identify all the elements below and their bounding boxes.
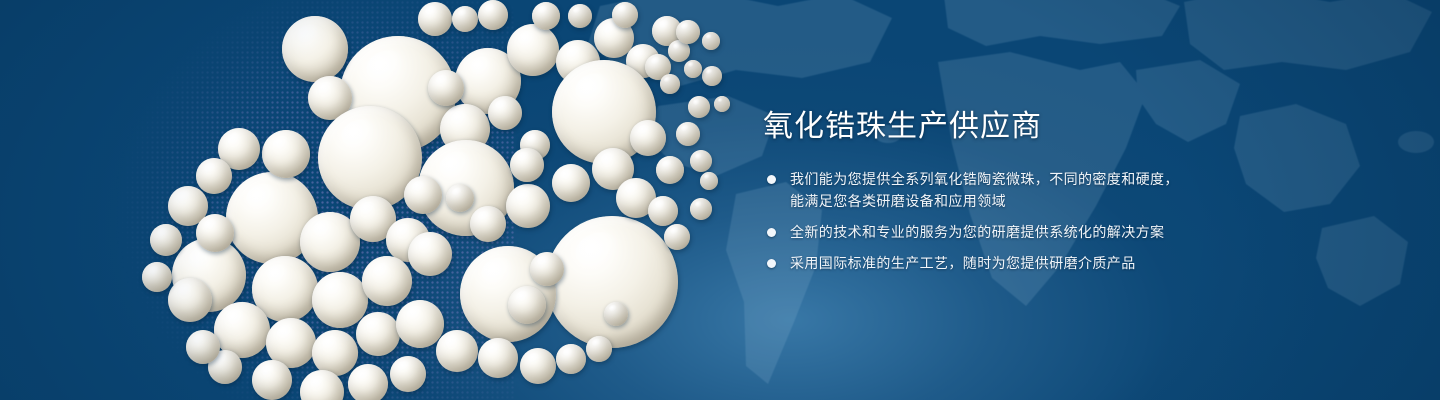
- filled-circle-bullet-icon: [767, 228, 776, 237]
- hero-banner: 氧化锆珠生产供应商 我们能为您提供全系列氧化锆陶瓷微珠，不同的密度和硬度， 能满…: [0, 0, 1440, 400]
- bullet-line: 能满足您各类研磨设备和应用领域: [790, 190, 1233, 212]
- bullet-line: 全新的技术和专业的服务为您的研磨提供系统化的解决方案: [790, 221, 1233, 243]
- banner-content: 氧化锆珠生产供应商 我们能为您提供全系列氧化锆陶瓷微珠，不同的密度和硬度， 能满…: [763, 108, 1233, 274]
- bullet-line: 我们能为您提供全系列氧化锆陶瓷微珠，不同的密度和硬度，: [790, 168, 1233, 190]
- page-title: 氧化锆珠生产供应商: [763, 108, 1233, 146]
- feature-bullet-list: 我们能为您提供全系列氧化锆陶瓷微珠，不同的密度和硬度， 能满足您各类研磨设备和应…: [763, 168, 1233, 274]
- filled-circle-bullet-icon: [767, 259, 776, 268]
- list-item: 采用国际标准的生产工艺，随时为您提供研磨介质产品: [763, 252, 1233, 274]
- filled-circle-bullet-icon: [767, 175, 776, 184]
- list-item: 我们能为您提供全系列氧化锆陶瓷微珠，不同的密度和硬度， 能满足您各类研磨设备和应…: [763, 168, 1233, 212]
- bullet-line: 采用国际标准的生产工艺，随时为您提供研磨介质产品: [790, 252, 1233, 274]
- list-item: 全新的技术和专业的服务为您的研磨提供系统化的解决方案: [763, 221, 1233, 243]
